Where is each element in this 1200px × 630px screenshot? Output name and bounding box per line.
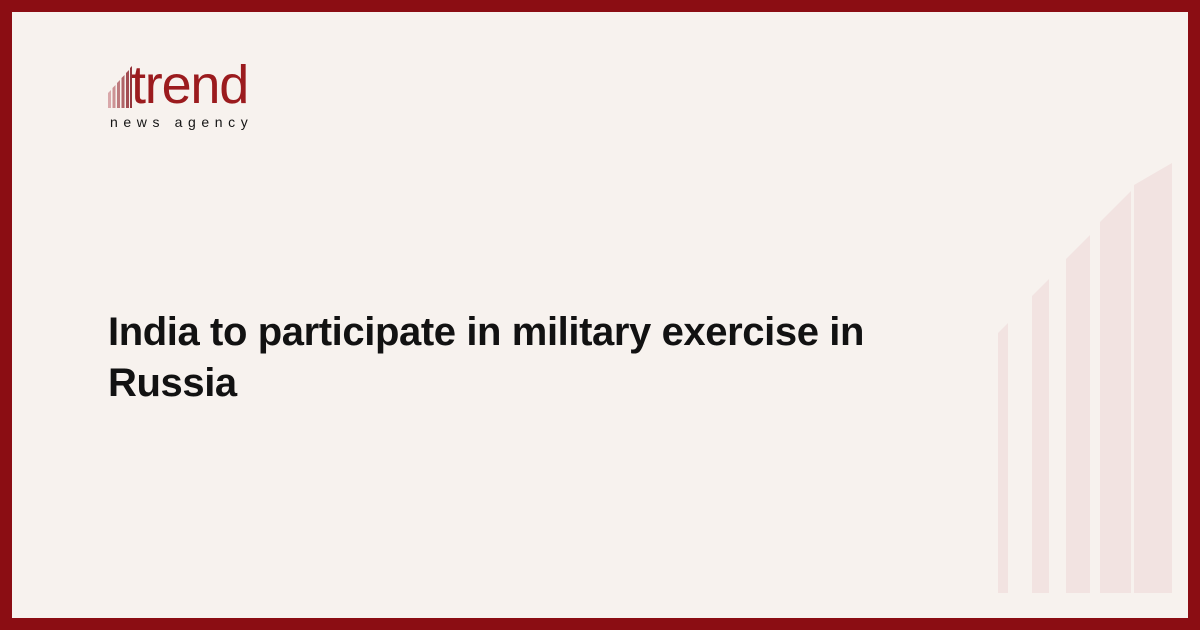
logo-wordmark: trend — [131, 62, 248, 108]
logo-tagline: news agency — [110, 114, 278, 130]
brand-logo[interactable]: trend news agency — [108, 54, 278, 130]
logo-lockup: trend — [108, 54, 278, 108]
headline-title: India to participate in military exercis… — [108, 307, 988, 409]
share-card: trend news agency India to participate i… — [0, 0, 1200, 630]
skyline-bars-watermark-icon — [998, 163, 1176, 593]
skyline-bars-icon — [108, 62, 132, 108]
